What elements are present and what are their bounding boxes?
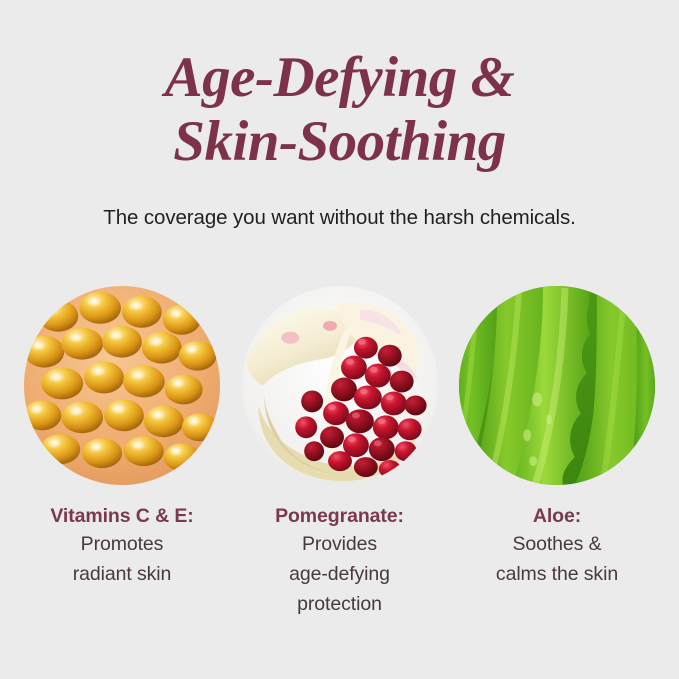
ingredient-desc-line: radiant skin (17, 559, 227, 589)
ingredient-caption: Pomegranate: Provides age-defying protec… (235, 503, 445, 619)
aloe-leaves-photo (459, 286, 655, 485)
ingredient-desc-line: calms the skin (452, 559, 662, 589)
ingredient-title: Vitamins C & E: (17, 503, 227, 529)
ingredient-list: Vitamins C & E: Promotes radiant skin (0, 286, 679, 619)
ingredient-desc-line: age-defying (235, 559, 445, 589)
ingredient-desc-line: Provides (235, 529, 445, 559)
ingredient-title: Pomegranate: (235, 503, 445, 529)
ingredient-desc-line: Soothes & (452, 529, 662, 559)
ingredient-caption: Vitamins C & E: Promotes radiant skin (17, 503, 227, 589)
headline-line-1: Age-Defying & (0, 48, 679, 108)
ingredient-desc-line: Promotes (17, 529, 227, 559)
headline-line-2: Skin-Soothing (0, 112, 679, 172)
page-title: Age-Defying & Skin-Soothing (0, 48, 679, 172)
promo-graphic: Age-Defying & Skin-Soothing The coverage… (0, 0, 679, 679)
subtitle: The coverage you want without the harsh … (0, 205, 679, 231)
ingredient-item-aloe: Aloe: Soothes & calms the skin (459, 286, 655, 619)
pomegranate-photo (242, 286, 438, 485)
ingredient-desc-line: protection (235, 589, 445, 619)
vitamin-capsules-photo (24, 286, 220, 485)
ingredient-item-pomegranate: Pomegranate: Provides age-defying protec… (242, 286, 438, 619)
ingredient-caption: Aloe: Soothes & calms the skin (452, 503, 662, 589)
ingredient-title: Aloe: (452, 503, 662, 529)
ingredient-item-vitamins: Vitamins C & E: Promotes radiant skin (24, 286, 220, 619)
